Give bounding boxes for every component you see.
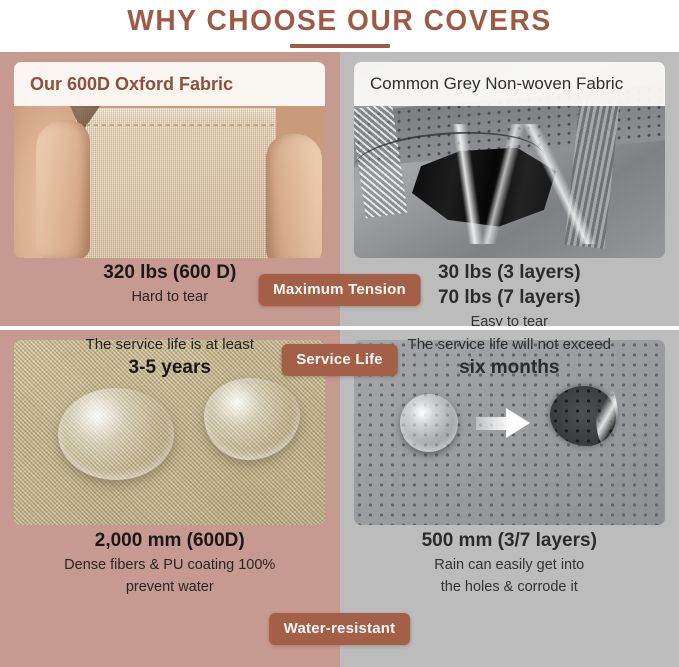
card-label-ours: Our 600D Oxford Fabric: [14, 62, 325, 106]
water-note-common-line2: the holes & corrode it: [340, 575, 679, 597]
comparison-grid: Our 600D Oxford Fabric Common Grey Non-w…: [0, 52, 679, 667]
card-label-ours-text: Our 600D Oxford Fabric: [30, 74, 233, 95]
arrow-shaft: [476, 417, 510, 430]
badge-maximum-tension: Maximum Tension: [258, 274, 421, 306]
header: WHY CHOOSE OUR COVERS: [0, 0, 679, 52]
arrow-head: [506, 408, 530, 438]
water-stats-ours: 2,000 mm (600D) Dense fibers & PU coatin…: [0, 528, 340, 597]
card-label-common-text: Common Grey Non-woven Fabric: [370, 74, 623, 94]
page-title: WHY CHOOSE OUR COVERS: [10, 0, 669, 39]
left-hand-thumb: [36, 120, 90, 258]
card-label-common: Common Grey Non-woven Fabric: [354, 62, 665, 106]
badge-water-resistant: Water-resistant: [269, 613, 411, 645]
water-bead-large: [58, 388, 174, 480]
water-note-common-line1: Rain can easily get into: [340, 553, 679, 575]
row-divider: [0, 326, 679, 330]
water-value-common: 500 mm (3/7 layers): [340, 528, 679, 553]
fabric-stitch-seam: [78, 124, 274, 126]
infographic-root: WHY CHOOSE OUR COVERS Our 600D Oxford Fa…: [0, 0, 679, 667]
water-drop: [400, 394, 458, 452]
photo-card-torn-nonwoven: Common Grey Non-woven Fabric: [354, 62, 665, 258]
title-underline-rule: [290, 44, 390, 48]
water-value-ours: 2,000 mm (600D): [0, 528, 340, 553]
arrow-right-icon: [476, 408, 532, 438]
badge-service-life: Service Life: [281, 344, 398, 376]
water-note-ours-line2: prevent water: [0, 575, 340, 597]
photo-card-oxford-fabric: Our 600D Oxford Fabric: [14, 62, 325, 258]
fabric-weave-surface: [76, 108, 276, 258]
water-note-ours-line1: Dense fibers & PU coating 100%: [0, 553, 340, 575]
water-stats-common: 500 mm (3/7 layers) Rain can easily get …: [340, 528, 679, 597]
right-hand-thumb: [266, 134, 322, 258]
water-bead-small: [204, 378, 300, 460]
wet-patch-sheen: [596, 386, 618, 448]
